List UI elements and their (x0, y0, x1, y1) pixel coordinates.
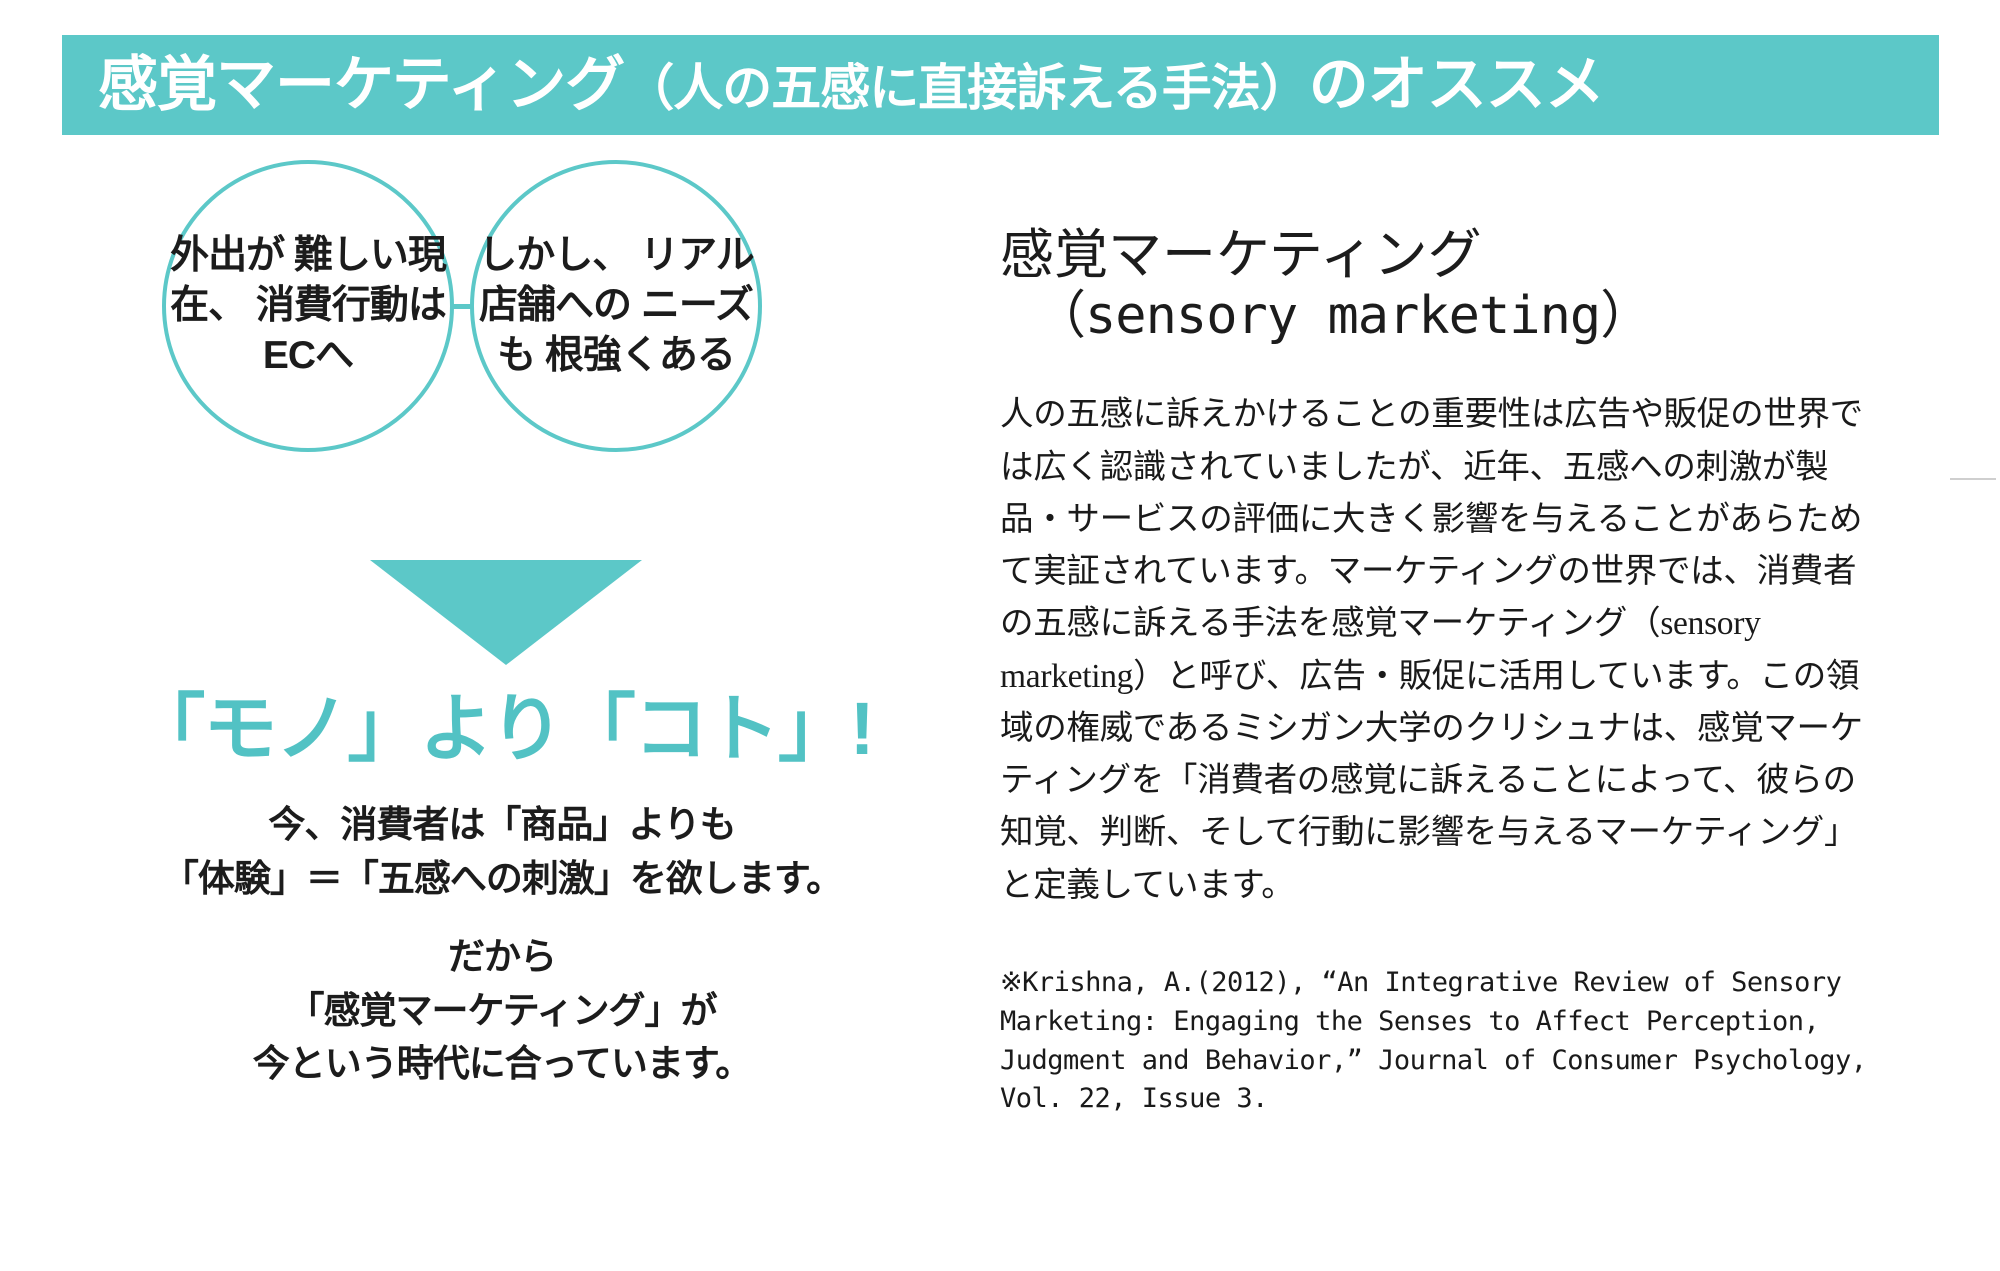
down-arrow-icon (370, 560, 642, 665)
edge-divider-tick (1950, 478, 1996, 480)
circle-node-1-label: 外出が 難しい現在、 消費行動は ECへ (166, 231, 450, 381)
circle-diagram: 外出が 難しい現在、 消費行動は ECへ しかし、 リアル店舗への ニーズも 根… (62, 160, 942, 450)
citation-footnote: ※Krishna, A.(2012), “An Integrative Revi… (1000, 964, 1880, 1120)
left-paragraph-2: だから 「感覚マーケティング」が 今という時代に合っています。 (62, 930, 942, 1091)
right-body-text: 人の五感に訴えかけることの重要性は広告や販促の世界では広く認識されていましたが、… (1000, 389, 1880, 912)
page-title: 感覚マーケティング（人の五感に直接訴える手法）のオススメ (98, 55, 1604, 115)
page-title-part-1: 感覚マーケティング (98, 51, 624, 118)
left-headline: 「モノ」より「コト」! (62, 690, 942, 768)
header-banner: 感覚マーケティング（人の五感に直接訴える手法）のオススメ (62, 35, 1939, 135)
right-heading-english: （sensory marketing） (1000, 287, 1880, 347)
page-title-parenthetical: （人の五感に直接訴える手法） (624, 60, 1309, 116)
right-column: 感覚マーケティング （sensory marketing） 人の五感に訴えかける… (1000, 225, 1880, 1119)
left-column: 外出が 難しい現在、 消費行動は ECへ しかし、 リアル店舗への ニーズも 根… (62, 160, 942, 1240)
circle-node-2-label: しかし、 リアル店舗への ニーズも 根強くある (474, 231, 758, 381)
page-title-part-2: のオススメ (1309, 51, 1604, 118)
slide-root: 感覚マーケティング（人の五感に直接訴える手法）のオススメ 外出が 難しい現在、 … (0, 0, 2000, 1271)
left-paragraph-1: 今、消費者は「商品」よりも 「体験」＝「五感への刺激」を欲します。 (62, 798, 942, 905)
circle-node-1: 外出が 難しい現在、 消費行動は ECへ (162, 160, 454, 452)
right-heading-japanese: 感覚マーケティング (1000, 225, 1880, 285)
circle-node-2: しかし、 リアル店舗への ニーズも 根強くある (470, 160, 762, 452)
